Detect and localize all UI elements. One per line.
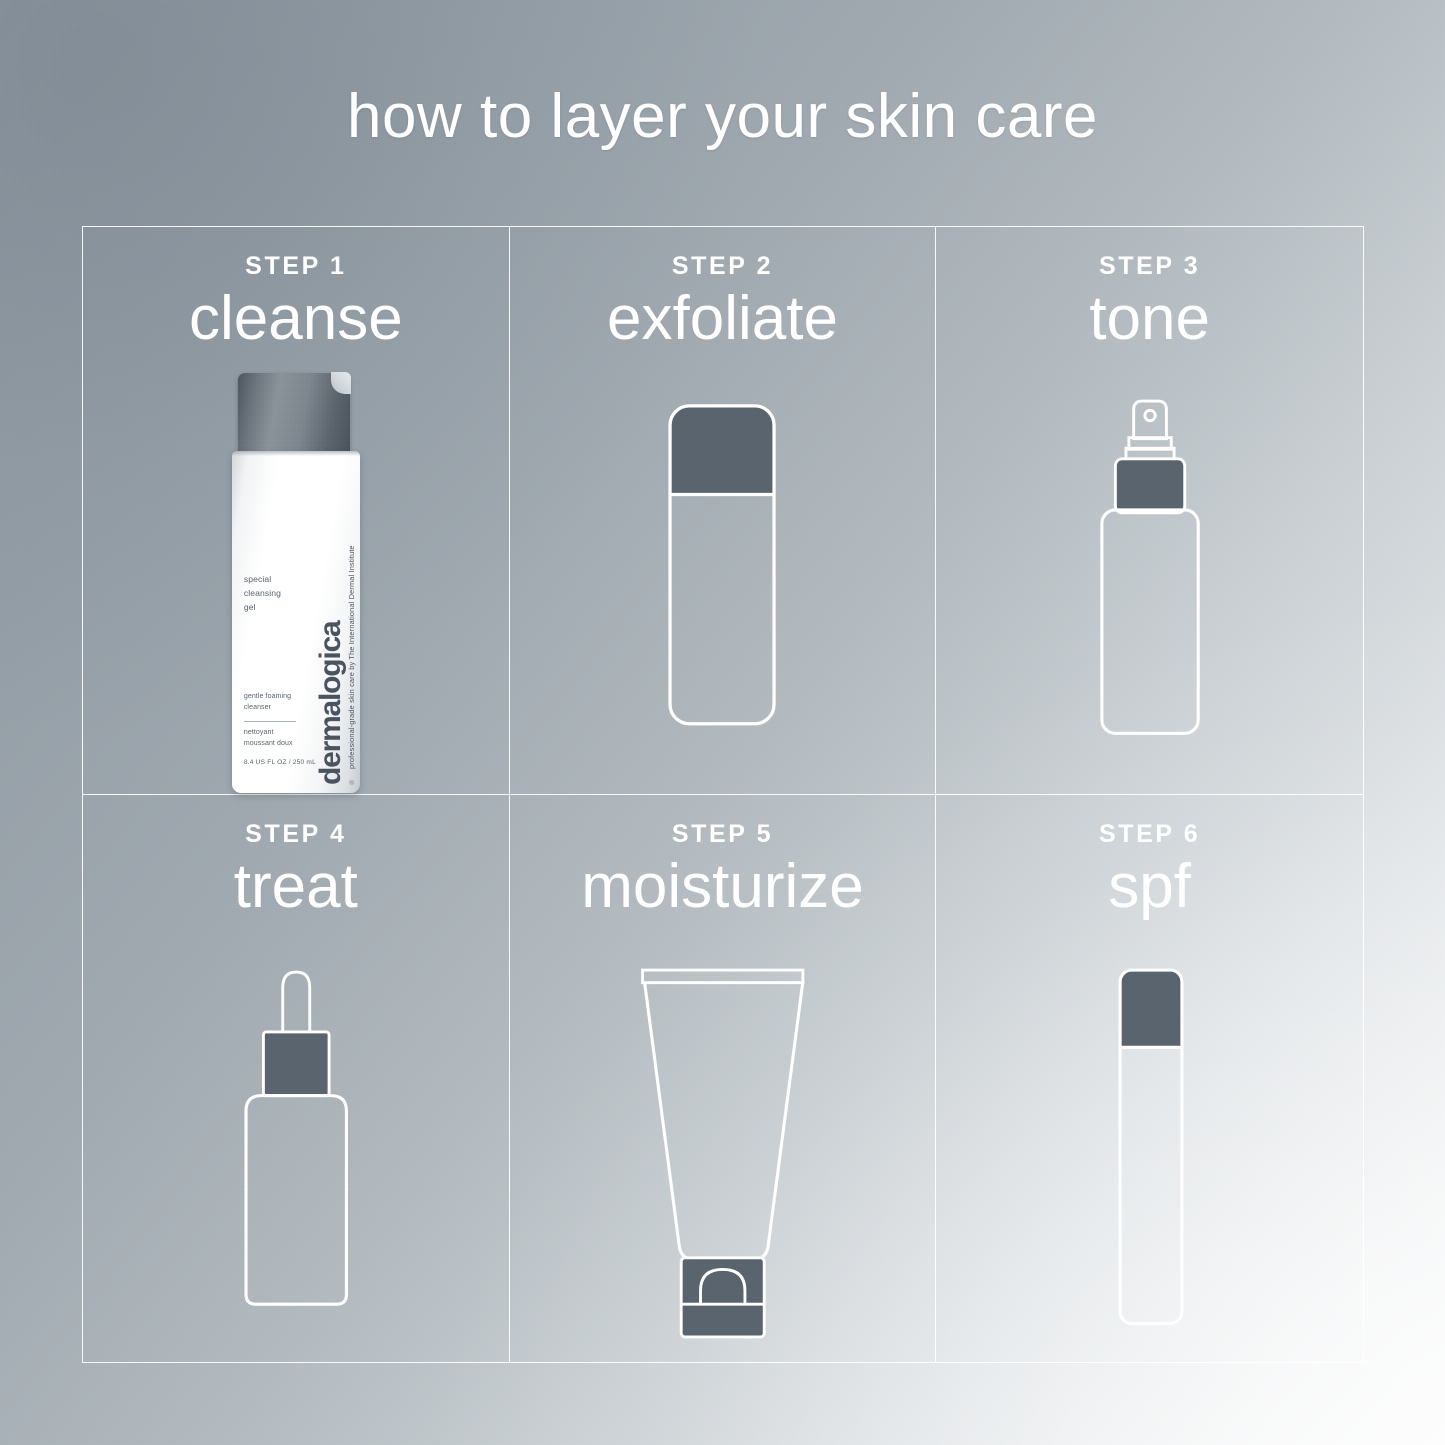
infographic-canvas: how to layer your skin care STEP 1 clean… (0, 0, 1445, 1445)
step-label-2: STEP 2 (510, 254, 936, 279)
product-volume-label: 8.4 US FL OZ / 250 mL (244, 759, 344, 766)
registered-mark: ® (349, 781, 353, 787)
spf-bottle-outline-icon (936, 945, 1363, 1351)
step-cell-moisturize[interactable]: STEP 5 moisturize (510, 795, 937, 1363)
step-label-5: STEP 5 (510, 822, 936, 847)
cleanser-bottle-photo: dermalogica professional-grade skin care… (232, 373, 360, 793)
step-name-tone: tone (936, 277, 1363, 361)
step-label-6: STEP 6 (936, 822, 1363, 847)
step-name-cleanse: cleanse (83, 277, 509, 361)
exfoliant-bottle-outline-icon (510, 377, 936, 782)
moisturizer-tube-outline-icon (510, 945, 936, 1351)
step-label-4: STEP 4 (83, 822, 509, 847)
step-name-treat: treat (83, 845, 509, 929)
bottle-body: dermalogica professional-grade skin care… (232, 451, 360, 793)
step-label-1: STEP 1 (83, 254, 509, 279)
serum-dropper-bottle-outline-icon (83, 945, 509, 1351)
brand-tagline-label: professional-grade skin care by The Inte… (348, 469, 355, 769)
step-name-spf: spf (936, 845, 1363, 929)
step-cell-tone[interactable]: STEP 3 tone (936, 227, 1363, 795)
product-descriptor-fr: nettoyant moussant doux (244, 727, 324, 749)
step-cell-spf[interactable]: STEP 6 spf (936, 795, 1363, 1363)
page-title: how to layer your skin care (0, 86, 1445, 148)
label-divider (244, 721, 296, 722)
product-descriptor-en: gentle foaming cleanser (244, 691, 314, 713)
step-cell-treat[interactable]: STEP 4 treat (83, 795, 510, 1363)
bottle-cap (238, 373, 350, 455)
product-name-label: special cleansing gel (244, 573, 310, 615)
step-label-3: STEP 3 (936, 254, 1363, 279)
step-name-exfoliate: exfoliate (510, 277, 936, 361)
step-cell-cleanse[interactable]: STEP 1 cleanse dermalogica professional-… (83, 227, 510, 795)
step-name-moisturize: moisturize (510, 845, 936, 929)
toner-spray-bottle-outline-icon (936, 377, 1363, 782)
steps-grid: STEP 1 cleanse dermalogica professional-… (82, 226, 1364, 1363)
step-cell-exfoliate[interactable]: STEP 2 exfoliate (510, 227, 937, 795)
